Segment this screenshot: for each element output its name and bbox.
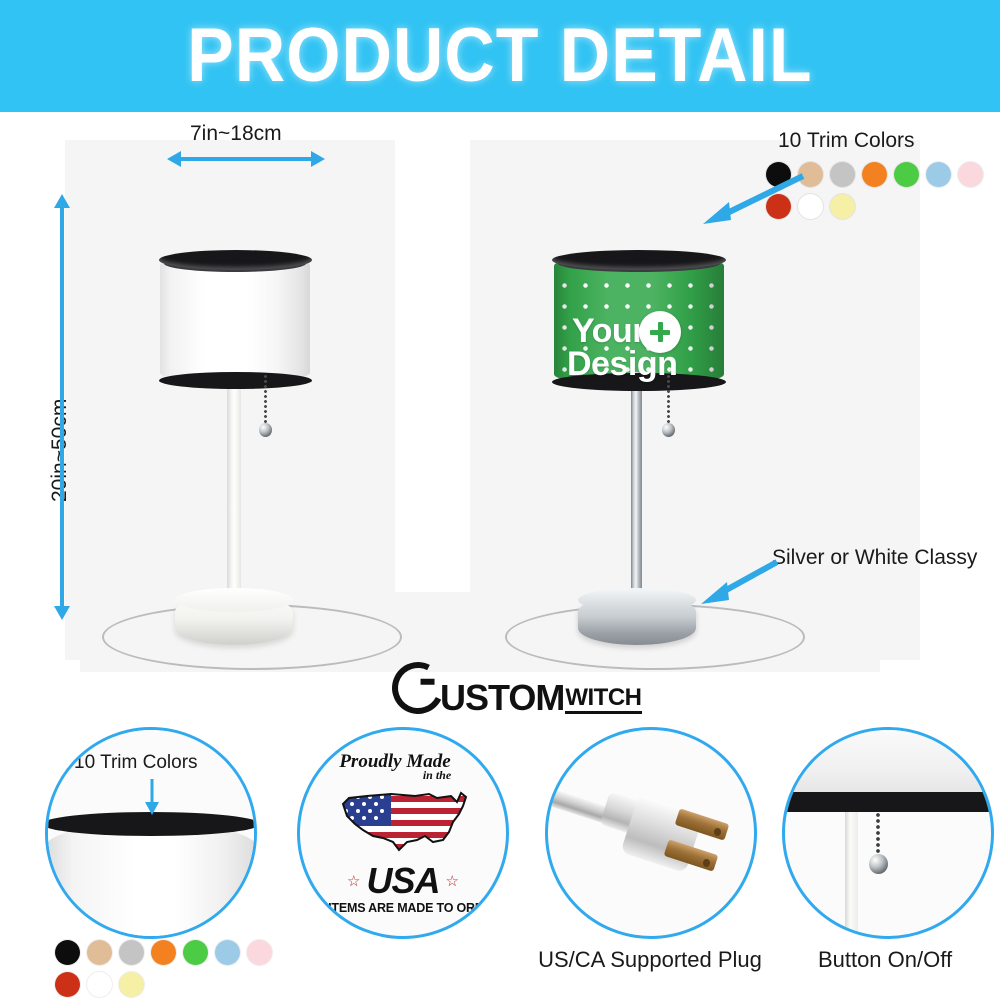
brand-logo-sub: WITCH xyxy=(565,687,641,709)
brand-logo-main: USTOM xyxy=(440,681,564,714)
swatch-pink[interactable] xyxy=(958,162,983,187)
swatch-gray[interactable] xyxy=(119,940,144,965)
page-title: PRODUCT DETAIL xyxy=(187,18,812,94)
swatch-orange[interactable] xyxy=(151,940,176,965)
width-dimension-arrow xyxy=(180,157,312,161)
base-finish-callout: Silver or White Classy xyxy=(772,546,977,570)
plug-prong-hole-bottom xyxy=(703,859,710,867)
shade-trim-bottom xyxy=(159,372,312,389)
plus-icon[interactable] xyxy=(639,311,681,353)
custom-green-lamp: Your Design xyxy=(515,172,795,692)
design-line-1: Your xyxy=(572,314,645,349)
feature-trim-colors-swatches xyxy=(55,940,295,997)
swatch-tan[interactable] xyxy=(87,940,112,965)
width-dimension-label: 7in~18cm xyxy=(190,122,282,146)
feature-power-plug xyxy=(545,727,757,939)
swatch-pink[interactable] xyxy=(247,940,272,965)
usa-badge: Proudly Made in the xyxy=(300,730,506,936)
lamp-shade xyxy=(160,254,310,384)
pull-chain-knob[interactable] xyxy=(259,423,272,437)
pull-chain xyxy=(264,374,267,426)
swatch-black[interactable] xyxy=(55,940,80,965)
feature-power-button-caption: Button On/Off xyxy=(790,947,980,973)
swatch-green[interactable] xyxy=(183,940,208,965)
feature-power-button xyxy=(782,727,994,939)
trim-colors-pointer-arrow xyxy=(695,170,810,230)
white-lamp xyxy=(120,172,400,692)
brand-logo: USTOM WITCH xyxy=(392,662,642,714)
shade-closeup-body xyxy=(45,822,257,939)
star-icon: ☆ xyxy=(446,872,459,890)
swatch-green[interactable] xyxy=(894,162,919,187)
pull-chain-knob[interactable] xyxy=(662,423,675,437)
trim-colors-down-arrow xyxy=(141,777,163,822)
base-finish-pointer-arrow xyxy=(695,554,785,609)
header-banner: PRODUCT DETAIL xyxy=(0,0,1000,112)
height-dimension-arrow xyxy=(60,207,64,607)
feature-trim-colors: 10 Trim Colors xyxy=(45,727,257,939)
usa-badge-big: USA xyxy=(366,863,439,899)
lamp-base-top xyxy=(175,588,293,612)
lamp-pole xyxy=(631,372,642,607)
brand-logo-sub-wrap: WITCH xyxy=(565,687,641,714)
swatch-red[interactable] xyxy=(55,972,80,997)
usa-badge-subhead: in the xyxy=(334,769,509,781)
lamp-shade: Your Design xyxy=(554,254,724,386)
brand-logo-underline xyxy=(565,711,641,714)
usa-badge-big-row: ☆ USA ☆ xyxy=(347,863,459,899)
product-detail-page: PRODUCT DETAIL xyxy=(0,0,1000,1000)
main-panel: 7in~18cm 20in~50cm Your Design xyxy=(0,112,1000,700)
pull-chain xyxy=(876,812,880,857)
lamp-pole-closeup xyxy=(845,812,858,937)
lamp-base-top xyxy=(578,588,696,612)
feature-power-plug-caption: US/CA Supported Plug xyxy=(505,947,795,973)
trim-colors-title: 10 Trim Colors xyxy=(778,129,915,153)
plug-prong-hole-top xyxy=(714,828,721,836)
shade-surface xyxy=(160,254,310,384)
swatch-light-blue[interactable] xyxy=(926,162,951,187)
star-icon: ☆ xyxy=(347,872,360,890)
usa-badge-footnote: ALL ITEMS ARE MADE TO ORDER! xyxy=(301,901,504,915)
usa-map-flag-icon xyxy=(333,784,473,865)
plug-icon xyxy=(548,730,754,936)
feature-made-in-usa: Proudly Made in the xyxy=(297,727,509,939)
swatch-light-blue[interactable] xyxy=(215,940,240,965)
swatch-white[interactable] xyxy=(87,972,112,997)
usa-badge-headline-wrap: Proudly Made in the xyxy=(300,752,506,783)
pull-chain-icon xyxy=(785,730,991,936)
swatch-orange[interactable] xyxy=(862,162,887,187)
feature-trim-colors-caption: 10 Trim Colors xyxy=(74,752,198,774)
shade-trim-top xyxy=(159,250,312,270)
pull-chain-knob[interactable] xyxy=(869,854,888,874)
swatch-gray[interactable] xyxy=(830,162,855,187)
swatch-yellow[interactable] xyxy=(119,972,144,997)
shade-closeup-body xyxy=(782,727,994,796)
shade-closeup-trim-bottom xyxy=(782,792,994,812)
shade-trim-top xyxy=(552,250,725,270)
swatch-yellow[interactable] xyxy=(830,194,855,219)
lamp-pole xyxy=(227,372,241,607)
